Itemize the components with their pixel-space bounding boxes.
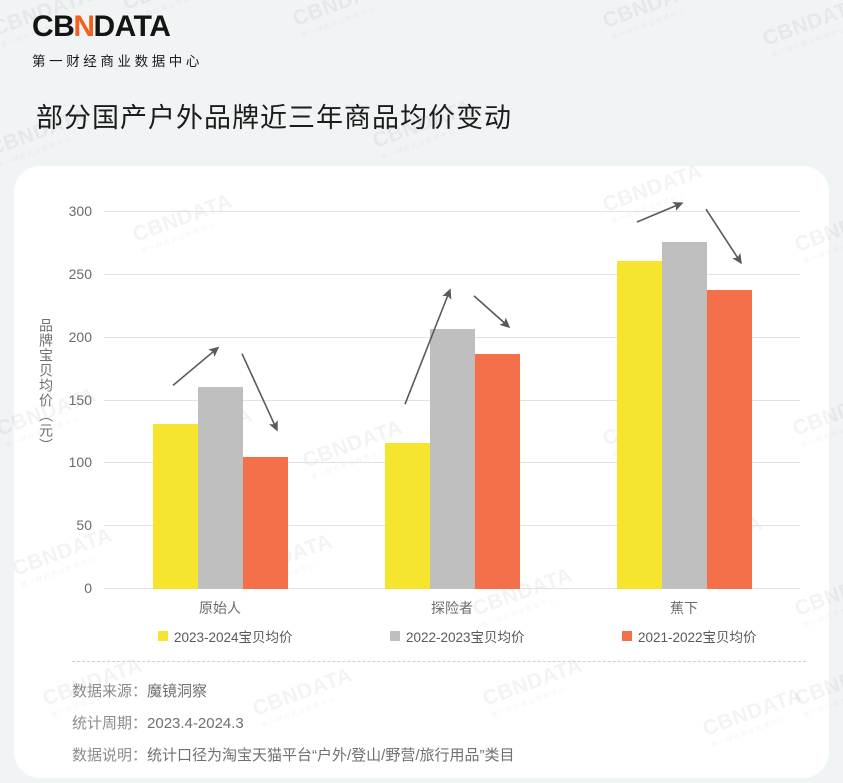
footer-note-line: 数据说明：统计口径为淘宝天猫平台“户外/登山/野营/旅行用品”类目	[72, 740, 515, 772]
footer-period-value: 2023.4-2024.3	[147, 715, 244, 732]
bar[interactable]	[662, 242, 707, 589]
logo-text-data: DATA	[94, 12, 171, 42]
bar[interactable]	[153, 424, 198, 589]
y-axis-tick-label: 200	[36, 329, 92, 345]
watermark: CBNDATA第一财经商业数据中心	[290, 0, 399, 40]
page-title: 部分国产户外品牌近三年商品均价变动	[36, 96, 512, 135]
bar[interactable]	[198, 387, 243, 589]
x-axis-label: 原始人	[199, 598, 241, 618]
footer-source-line: 数据来源：魔镜洞察	[72, 676, 515, 708]
legend-label: 2021-2022宝贝均价	[638, 626, 757, 646]
legend-item[interactable]: 2023-2024宝贝均价	[158, 626, 293, 646]
footer-divider	[72, 661, 806, 662]
bar[interactable]	[475, 354, 520, 589]
cbndata-logo: CBNDATA	[32, 12, 203, 42]
footer-notes: 数据来源：魔镜洞察 统计周期：2023.4-2024.3 数据说明：统计口径为淘…	[72, 676, 515, 772]
y-axis-tick-label: 300	[36, 203, 92, 219]
legend-label: 2023-2024宝贝均价	[174, 626, 293, 646]
footer-note-value: 统计口径为淘宝天猫平台“户外/登山/野营/旅行用品”类目	[147, 747, 515, 764]
footer-source-label: 数据来源：	[72, 683, 147, 700]
y-axis-tick-label: 150	[36, 392, 92, 408]
y-axis-tick-label: 250	[36, 266, 92, 282]
y-axis-tick-label: 0	[36, 580, 92, 596]
watermark: CBNDATA第一财经商业数据中心	[760, 0, 843, 60]
footer-period-label: 统计周期：	[72, 715, 147, 732]
footer-note-label: 数据说明：	[72, 747, 147, 764]
footer-source-value: 魔镜洞察	[147, 683, 207, 700]
brand-header: CBNDATA 第一财经商业数据中心	[32, 12, 203, 70]
legend-swatch-icon	[158, 631, 168, 641]
x-axis-label: 探险者	[431, 598, 473, 618]
x-axis-label: 蕉下	[670, 598, 698, 618]
logo-text-cb: CB	[32, 12, 74, 42]
legend-item[interactable]: 2022-2023宝贝均价	[390, 626, 525, 646]
bar[interactable]	[385, 443, 430, 589]
legend-item[interactable]: 2021-2022宝贝均价	[622, 626, 757, 646]
bar[interactable]	[243, 457, 288, 589]
legend-label: 2022-2023宝贝均价	[406, 626, 525, 646]
bar[interactable]	[430, 329, 475, 589]
logo-subtitle: 第一财经商业数据中心	[32, 50, 203, 70]
legend-swatch-icon	[622, 631, 632, 641]
legend-swatch-icon	[390, 631, 400, 641]
footer-period-line: 统计周期：2023.4-2024.3	[72, 708, 515, 740]
logo-letter-n-icon: N	[73, 12, 94, 42]
bar-series-container	[104, 205, 800, 589]
y-axis-tick-label: 100	[36, 454, 92, 470]
bar[interactable]	[707, 290, 752, 589]
y-axis-tick-label: 50	[36, 517, 92, 533]
bar[interactable]	[617, 261, 662, 589]
watermark: CBNDATA第一财经商业数据中心	[600, 0, 709, 42]
